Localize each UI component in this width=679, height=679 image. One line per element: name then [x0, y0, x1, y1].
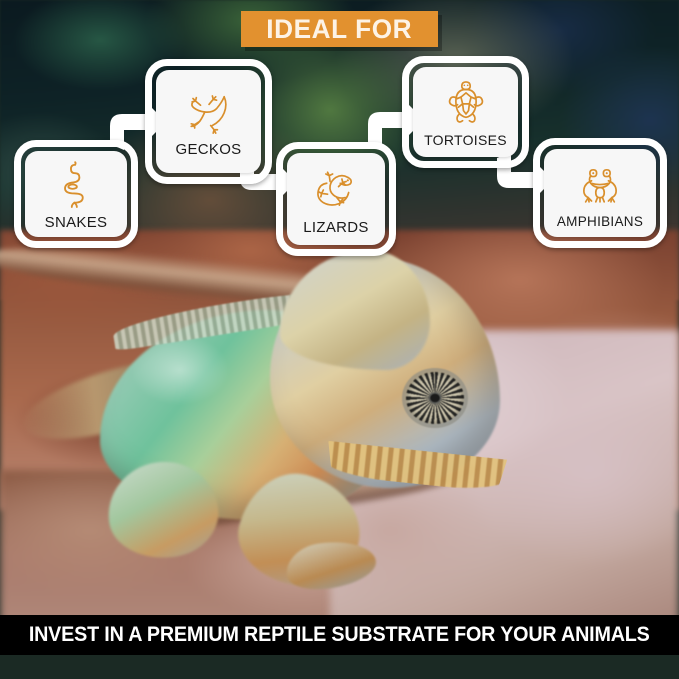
- chameleon-casque: [280, 250, 430, 370]
- tortoise-icon: [439, 76, 493, 130]
- card-body: TORTOISES: [413, 67, 518, 157]
- flow-card-geckos[interactable]: GECKOS: [145, 59, 272, 184]
- flow-card-lizards[interactable]: LIZARDS: [276, 142, 396, 256]
- snake-icon: [49, 158, 103, 212]
- lizard-icon: [309, 163, 363, 217]
- flow-card-tortoises[interactable]: TORTOISES: [402, 56, 529, 168]
- card-label: GECKOS: [176, 141, 242, 158]
- flow-card-amphibians[interactable]: AMPHIBIANS: [533, 138, 667, 248]
- card-label: AMPHIBIANS: [557, 214, 643, 229]
- card-label: TORTOISES: [424, 132, 507, 148]
- card-label: LIZARDS: [303, 219, 368, 236]
- chameleon-subject: [90, 250, 560, 610]
- flow-card-snakes[interactable]: SNAKES: [14, 140, 138, 248]
- card-body: AMPHIBIANS: [544, 149, 656, 237]
- ideal-for-flow: SNAKES GECKOS: [0, 0, 679, 260]
- footer-text: INVEST IN A PREMIUM REPTILE SUBSTRATE FO…: [29, 623, 650, 647]
- chameleon-eye: [406, 372, 464, 424]
- product-infographic: IDEAL FOR: [0, 0, 679, 679]
- frog-icon: [573, 158, 627, 212]
- card-body: SNAKES: [25, 151, 127, 237]
- footer-banner: INVEST IN A PREMIUM REPTILE SUBSTRATE FO…: [0, 615, 679, 655]
- card-label: SNAKES: [45, 214, 108, 231]
- card-body: LIZARDS: [287, 153, 385, 245]
- gecko-icon: [182, 85, 236, 139]
- card-body: GECKOS: [156, 70, 261, 173]
